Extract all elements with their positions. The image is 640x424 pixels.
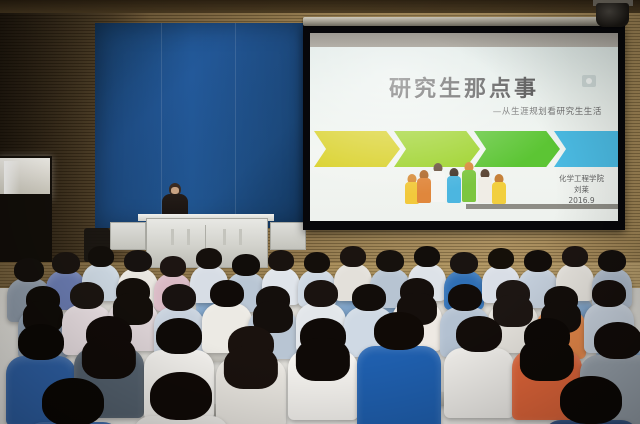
- cartoon-student-7: [491, 174, 507, 204]
- audience-head: [592, 280, 626, 307]
- audience-head: [156, 318, 202, 354]
- ceiling-strip: [0, 0, 640, 13]
- signature-date: 2016.9: [559, 196, 604, 207]
- audience-head: [400, 278, 434, 305]
- slide-title: 研究生那点事: [310, 71, 618, 103]
- audience-head: [162, 284, 196, 311]
- audience-head: [496, 280, 530, 307]
- podium-wing-left: [110, 222, 146, 250]
- audience-head: [256, 286, 290, 313]
- audience-head: [26, 286, 60, 313]
- audience-head: [228, 326, 274, 362]
- projection-screen: 研究生那点事 —从生涯规划看研究生生活 化学工程学院 刘莱 2016.9: [303, 25, 625, 230]
- audience-head: [116, 278, 150, 305]
- audience-head: [160, 256, 186, 277]
- audience-head: [560, 376, 622, 424]
- signature-org: 化学工程学院: [559, 174, 604, 185]
- chevron-4: [554, 131, 618, 167]
- audience-head: [150, 372, 212, 420]
- audience-head: [450, 252, 478, 274]
- podium-vent: [239, 229, 242, 245]
- audience-torso: [357, 346, 441, 424]
- podium-vent: [171, 229, 174, 245]
- left-dark-alcove: [0, 194, 52, 264]
- audience-head: [18, 324, 64, 360]
- audience-head: [70, 282, 104, 309]
- audience-head: [300, 318, 346, 354]
- audience-head: [352, 284, 386, 311]
- signature-presenter: 刘莱: [559, 185, 604, 196]
- slide-signature: 化学工程学院 刘莱 2016.9: [559, 174, 604, 207]
- audience-member: [42, 378, 104, 424]
- audience-head: [524, 250, 552, 272]
- audience-head: [488, 248, 514, 269]
- presentation-slide: 研究生那点事 —从生涯规划看研究生生活 化学工程学院 刘莱 2016.9: [310, 47, 618, 221]
- audience-head: [448, 284, 482, 311]
- cartoon-students-graphic: [396, 159, 528, 209]
- panel-shading: [95, 23, 310, 228]
- audience-head: [42, 378, 104, 424]
- cartoon-student-3: [430, 163, 446, 202]
- cartoon-student-body: [492, 182, 506, 204]
- audience-member: [150, 372, 212, 424]
- cartoon-student-4: [446, 168, 462, 203]
- podium-wing-right: [270, 222, 306, 250]
- lecture-hall-photo: 研究生那点事 —从生涯规划看研究生生活 化学工程学院 刘莱 2016.9: [0, 0, 640, 424]
- ceiling-projector-icon: [596, 3, 629, 27]
- audience-head: [414, 246, 440, 267]
- presenter-face: [171, 187, 179, 194]
- cartoon-student-body: [417, 178, 431, 203]
- audience-head: [52, 252, 80, 274]
- audience-head: [196, 248, 222, 269]
- slide-subtitle: —从生涯规划看研究生生活: [493, 105, 602, 117]
- audience-head: [268, 250, 294, 271]
- audience-head: [340, 246, 366, 267]
- audience-head: [374, 312, 424, 350]
- audience-head: [598, 250, 626, 272]
- audience-head: [562, 246, 588, 267]
- audience-member: [456, 316, 502, 422]
- audience-head: [594, 322, 640, 359]
- projection-screen-roller: [303, 17, 625, 26]
- screen-band-top: [310, 33, 618, 47]
- audience-member: [374, 312, 424, 424]
- cartoon-student-body: [447, 176, 461, 203]
- audience-torso: [444, 348, 514, 418]
- cartoon-student-body: [431, 171, 445, 202]
- audience-head: [210, 280, 244, 307]
- audience-head: [86, 316, 132, 352]
- cartoon-student-body: [478, 177, 492, 203]
- audience-head: [88, 246, 114, 267]
- audience-head: [524, 318, 570, 354]
- podium-vent: [187, 229, 190, 245]
- podium-vent: [223, 229, 226, 245]
- cartoon-student-5: [461, 162, 477, 202]
- audience-head: [376, 250, 404, 272]
- chevron-1: [314, 131, 400, 167]
- audience-member: [560, 376, 622, 424]
- audience-head: [544, 286, 578, 313]
- audience-member: [228, 326, 274, 424]
- audience-member: [300, 318, 346, 424]
- audience-head: [14, 258, 44, 282]
- audience-head: [304, 252, 330, 273]
- blue-acoustic-panel: [95, 23, 310, 228]
- cartoon-student-body: [462, 170, 476, 202]
- audience-head: [456, 316, 502, 352]
- audience-head: [124, 250, 152, 272]
- audience-head: [304, 280, 338, 307]
- audience-head: [232, 254, 260, 276]
